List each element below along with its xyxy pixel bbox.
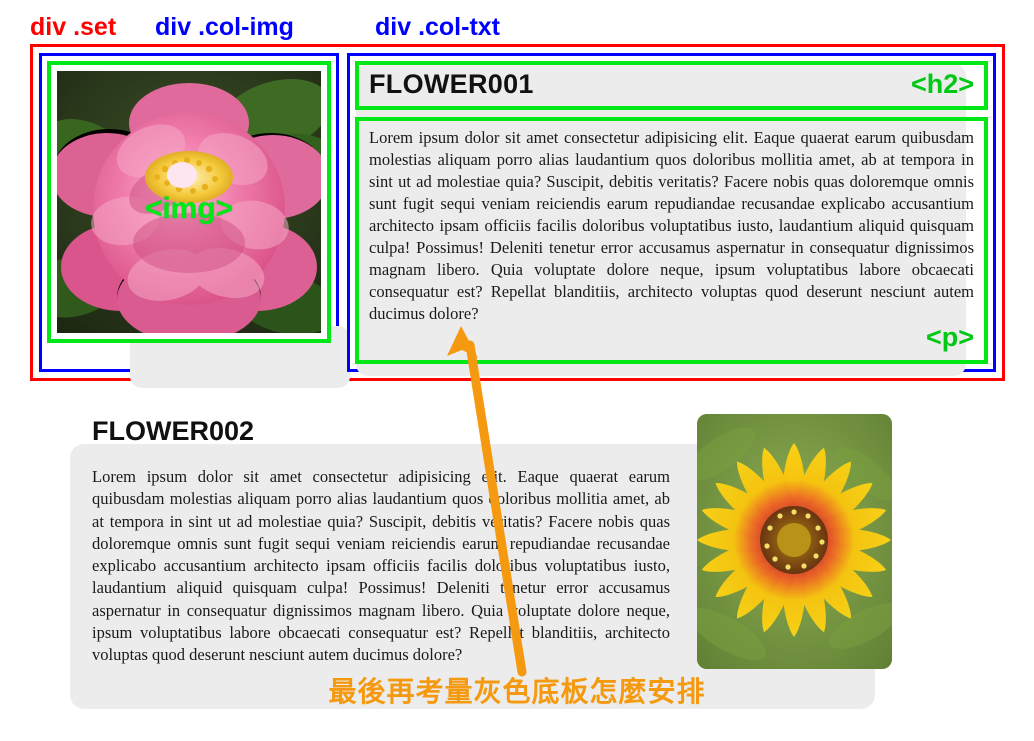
h2-tag-label: <h2> <box>911 69 974 100</box>
h2-element-box: FLOWER001 <h2> <box>355 61 988 110</box>
flower001-title: FLOWER001 <box>369 69 534 100</box>
blanket-flower-illustration <box>697 414 892 669</box>
img-element-box: <img> <box>47 61 331 343</box>
p-tag-label-row: <p> <box>369 320 974 356</box>
flower002-title: FLOWER002 <box>92 416 254 447</box>
div-col-txt: FLOWER001 <h2> Lorem ipsum dolor sit ame… <box>347 53 996 372</box>
flower002-body: Lorem ipsum dolor sit amet consectetur a… <box>92 466 670 666</box>
p-tag-label: <p> <box>926 322 974 352</box>
label-div-col-txt: div .col-txt <box>375 12 500 42</box>
div-set-container: <img> FLOWER001 <h2> Lorem ipsum dolor s… <box>30 44 1005 381</box>
flower001-body: Lorem ipsum dolor sit amet consectetur a… <box>369 127 974 324</box>
chinese-annotation-note: 最後再考量灰色底板怎麼安排 <box>0 670 1034 710</box>
page-root: div .set div .col-img div .col-txt <box>0 0 1034 741</box>
label-div-col-img: div .col-img <box>155 12 294 42</box>
p-element-box: Lorem ipsum dolor sit amet consectetur a… <box>355 117 988 364</box>
flower002-photo <box>697 414 892 669</box>
flower002-section: FLOWER002 Lorem ipsum dolor sit amet con… <box>0 400 1034 720</box>
flower001-photo: <img> <box>57 71 321 333</box>
annotation-label-row: div .set div .col-img div .col-txt <box>0 12 1034 46</box>
label-div-set: div .set <box>30 12 116 42</box>
div-col-img: <img> <box>39 53 339 372</box>
img-tag-overlay: <img> <box>57 192 321 226</box>
